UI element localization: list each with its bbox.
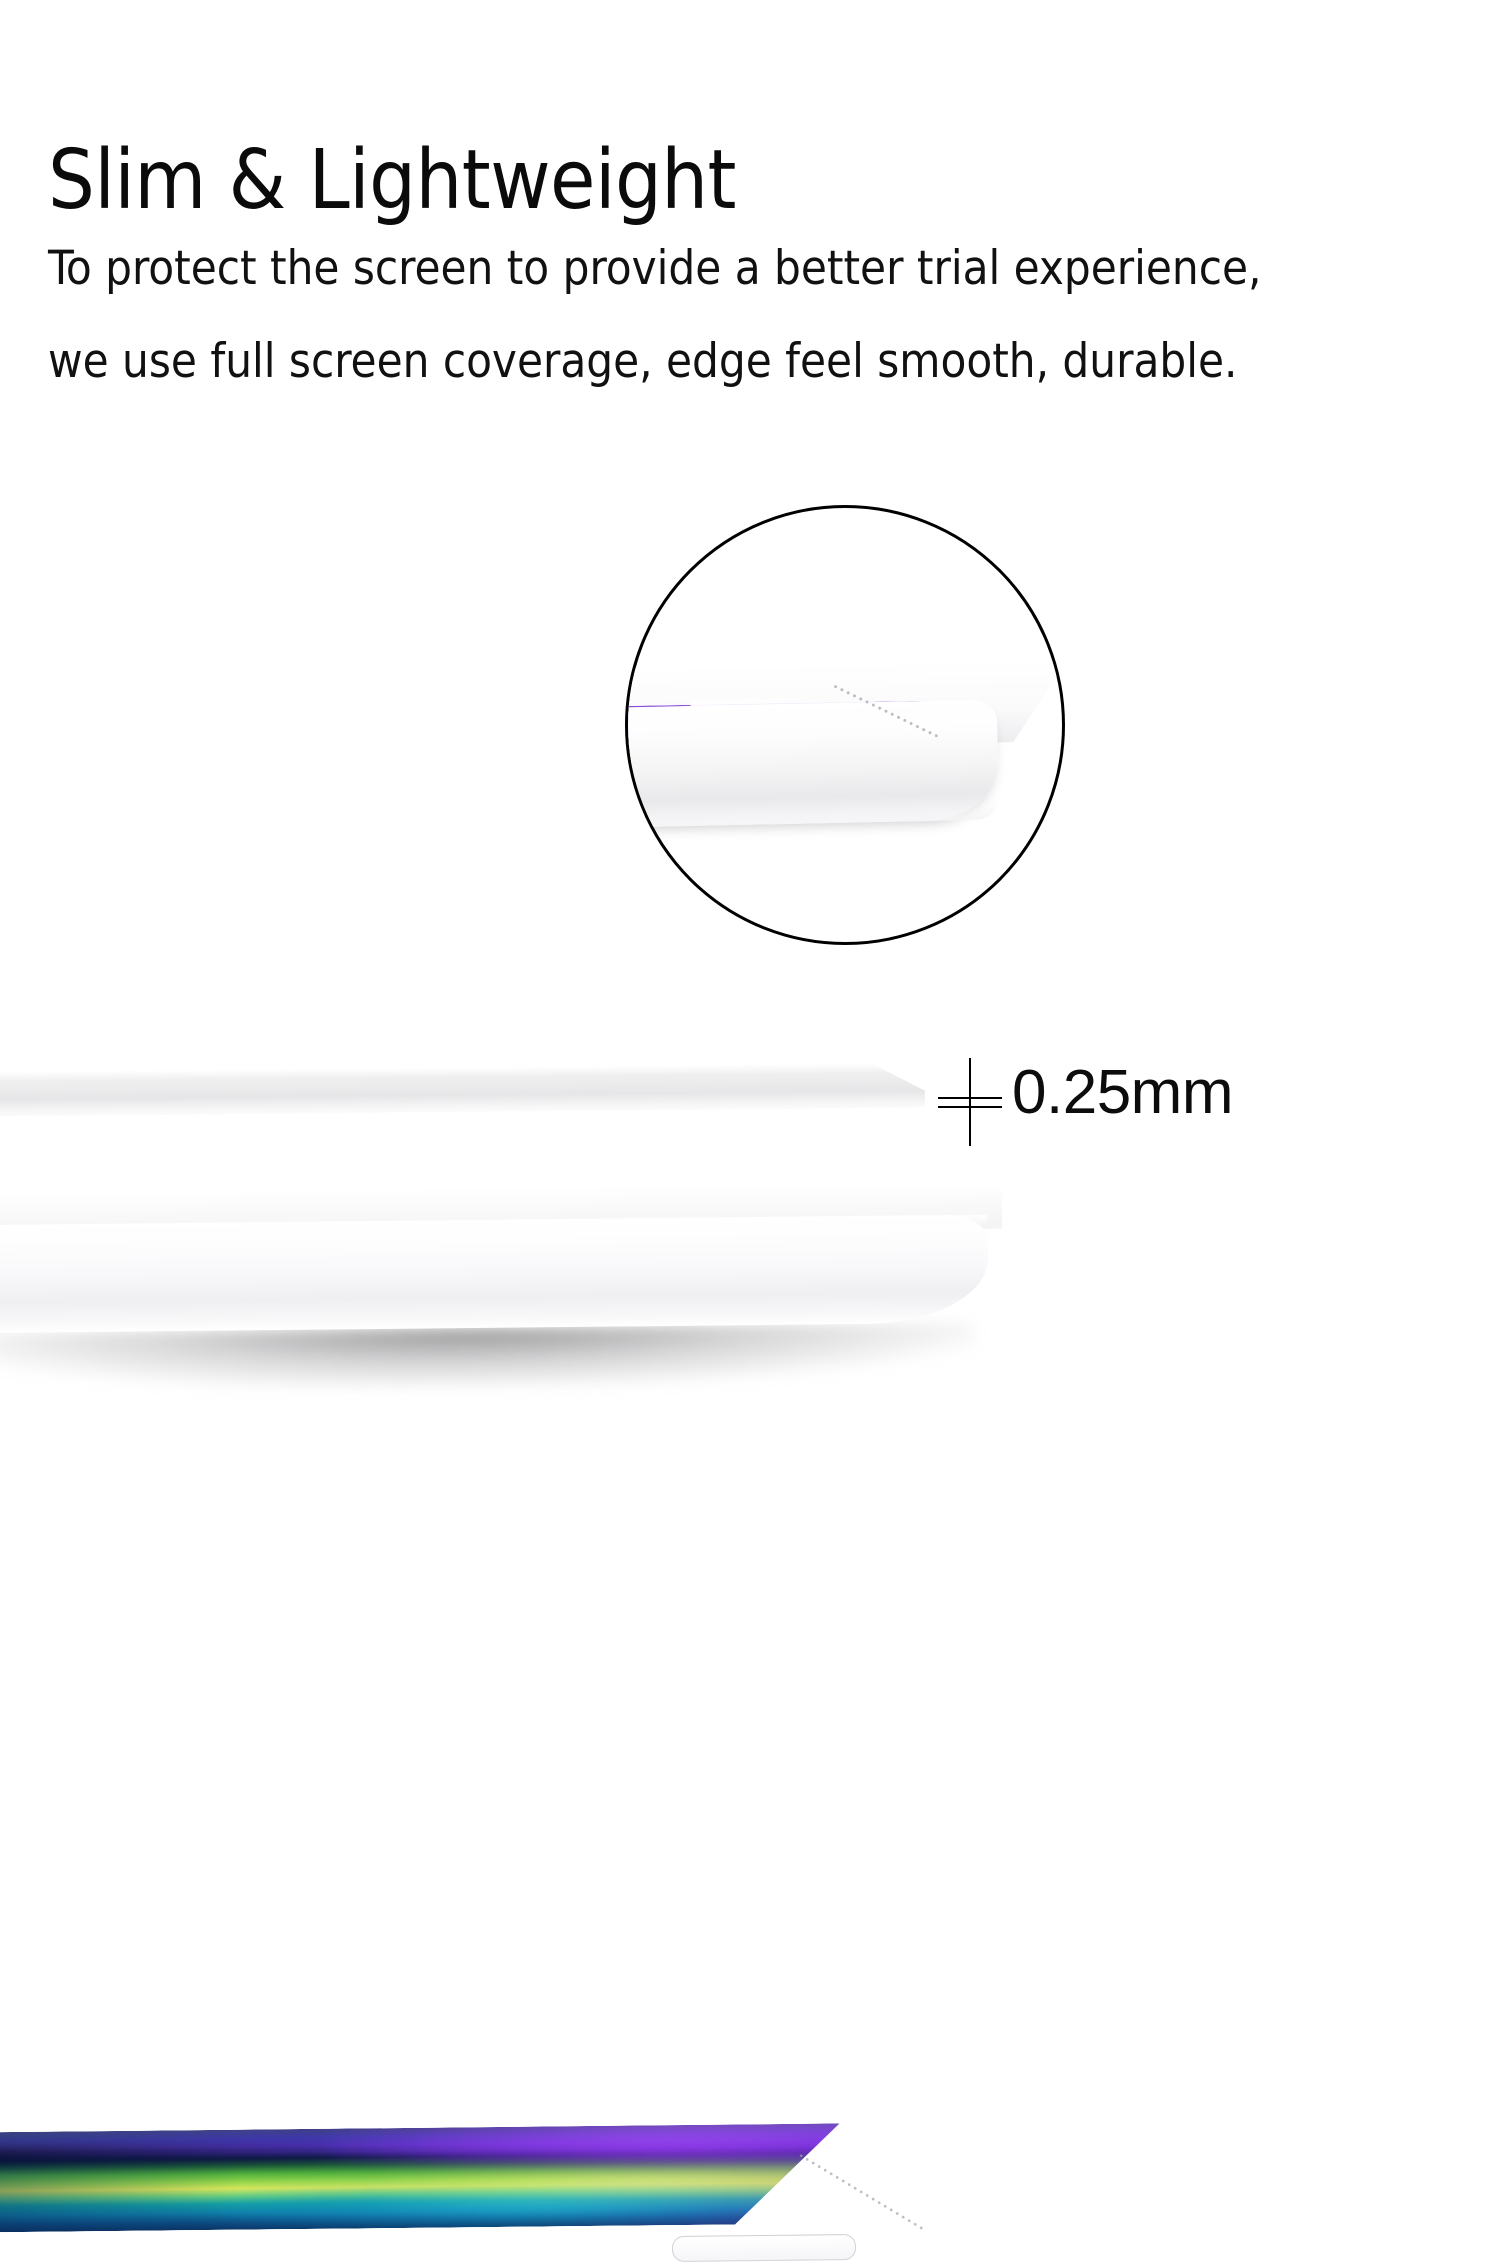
page-title: Slim & Lightweight: [48, 139, 736, 223]
dimension-line-bottom: [938, 1106, 1002, 1108]
magnifier-outline: [625, 505, 1065, 945]
device-body: [0, 1215, 989, 1334]
description-line-1: To protect the screen to provide a bette…: [48, 222, 1468, 315]
dimension-vertical-line: [969, 1058, 971, 1146]
device-side-button: [672, 2234, 856, 2262]
device-speaker-grille-icon: [789, 2151, 927, 2246]
device-drop-shadow: [0, 1323, 975, 1391]
screen-protector-sheet: [0, 1063, 925, 1116]
device-screen: [0, 2123, 840, 2232]
product-exploded-view: [0, 1020, 1500, 1420]
description-text: To protect the screen to provide a bette…: [48, 222, 1468, 408]
description-line-2: we use full screen coverage, edge feel s…: [48, 315, 1468, 408]
tablet-device: [0, 1132, 1005, 1312]
crosshair-dimension-icon: [938, 1058, 1002, 1146]
magnified-device-body: [625, 700, 999, 829]
magnified-detail-circle: [625, 505, 1065, 945]
screen-gloss: [0, 2123, 840, 2232]
thickness-label: 0.25mm: [1012, 1057, 1233, 1128]
dimension-line-top: [938, 1097, 1002, 1099]
magnified-tablet-corner: [628, 508, 1062, 942]
